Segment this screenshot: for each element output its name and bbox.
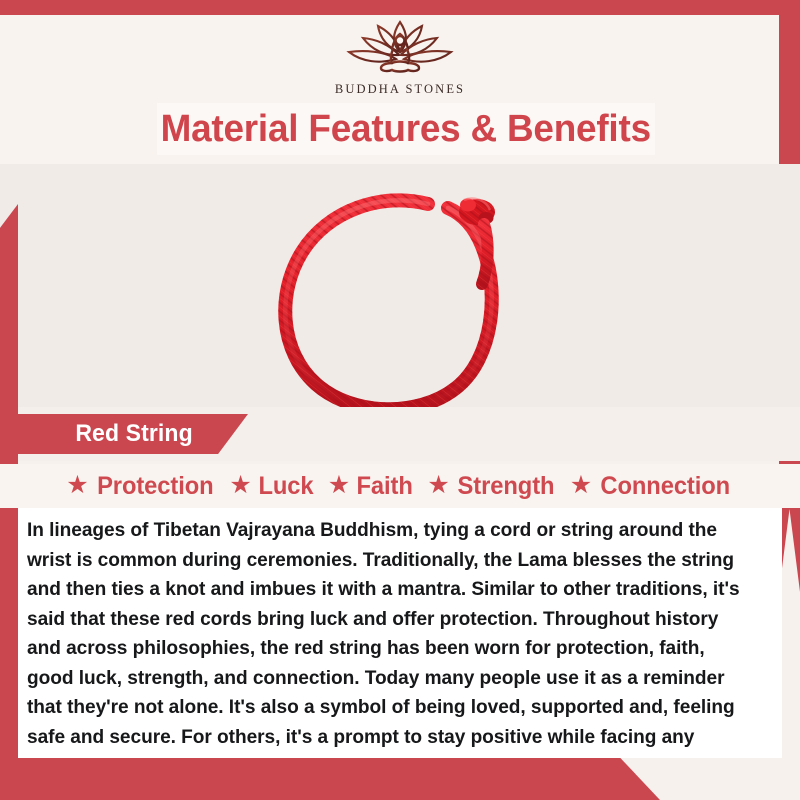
product-image-stage [0,164,800,407]
benefit-label: Luck [258,472,313,501]
brand-wordmark: BUDDHA STONES [0,82,800,97]
benefit-item-faith: ★ Faith [328,472,415,501]
description-text: In lineages of Tibetan Vajrayana Buddhis… [27,516,749,782]
decorative-band-bottom [0,758,660,800]
benefit-list: ★ Protection ★ Luck ★ Faith ★ Strength ★… [0,464,800,508]
star-icon: ★ [570,473,592,498]
red-string-braided-bracelet [232,172,572,407]
benefit-label: Protection [97,472,213,501]
benefit-item-connection: ★ Connection [570,472,734,501]
lotus-meditation-icon [330,18,470,80]
benefit-label: Strength [457,472,554,501]
title-plate: Material Features & Benefits [157,103,655,155]
benefit-item-strength: ★ Strength [427,472,556,501]
star-icon: ★ [427,473,449,498]
star-icon: ★ [229,473,251,498]
star-icon: ★ [328,473,350,498]
star-icon: ★ [66,473,88,498]
benefit-label: Connection [601,472,731,501]
benefit-label: Faith [357,472,413,501]
page-title: Material Features & Benefits [161,108,651,151]
material-name: Red String [22,420,193,448]
benefit-item-protection: ★ Protection [66,472,216,501]
material-ribbon-label: Red String [18,414,248,454]
benefit-item-luck: ★ Luck [229,472,314,501]
decorative-band-top [0,0,800,15]
infographic-page: BUDDHA STONES Material Features & Benefi… [0,0,800,800]
description-panel: In lineages of Tibetan Vajrayana Buddhis… [18,508,782,758]
brand-logo: BUDDHA STONES [0,18,800,97]
